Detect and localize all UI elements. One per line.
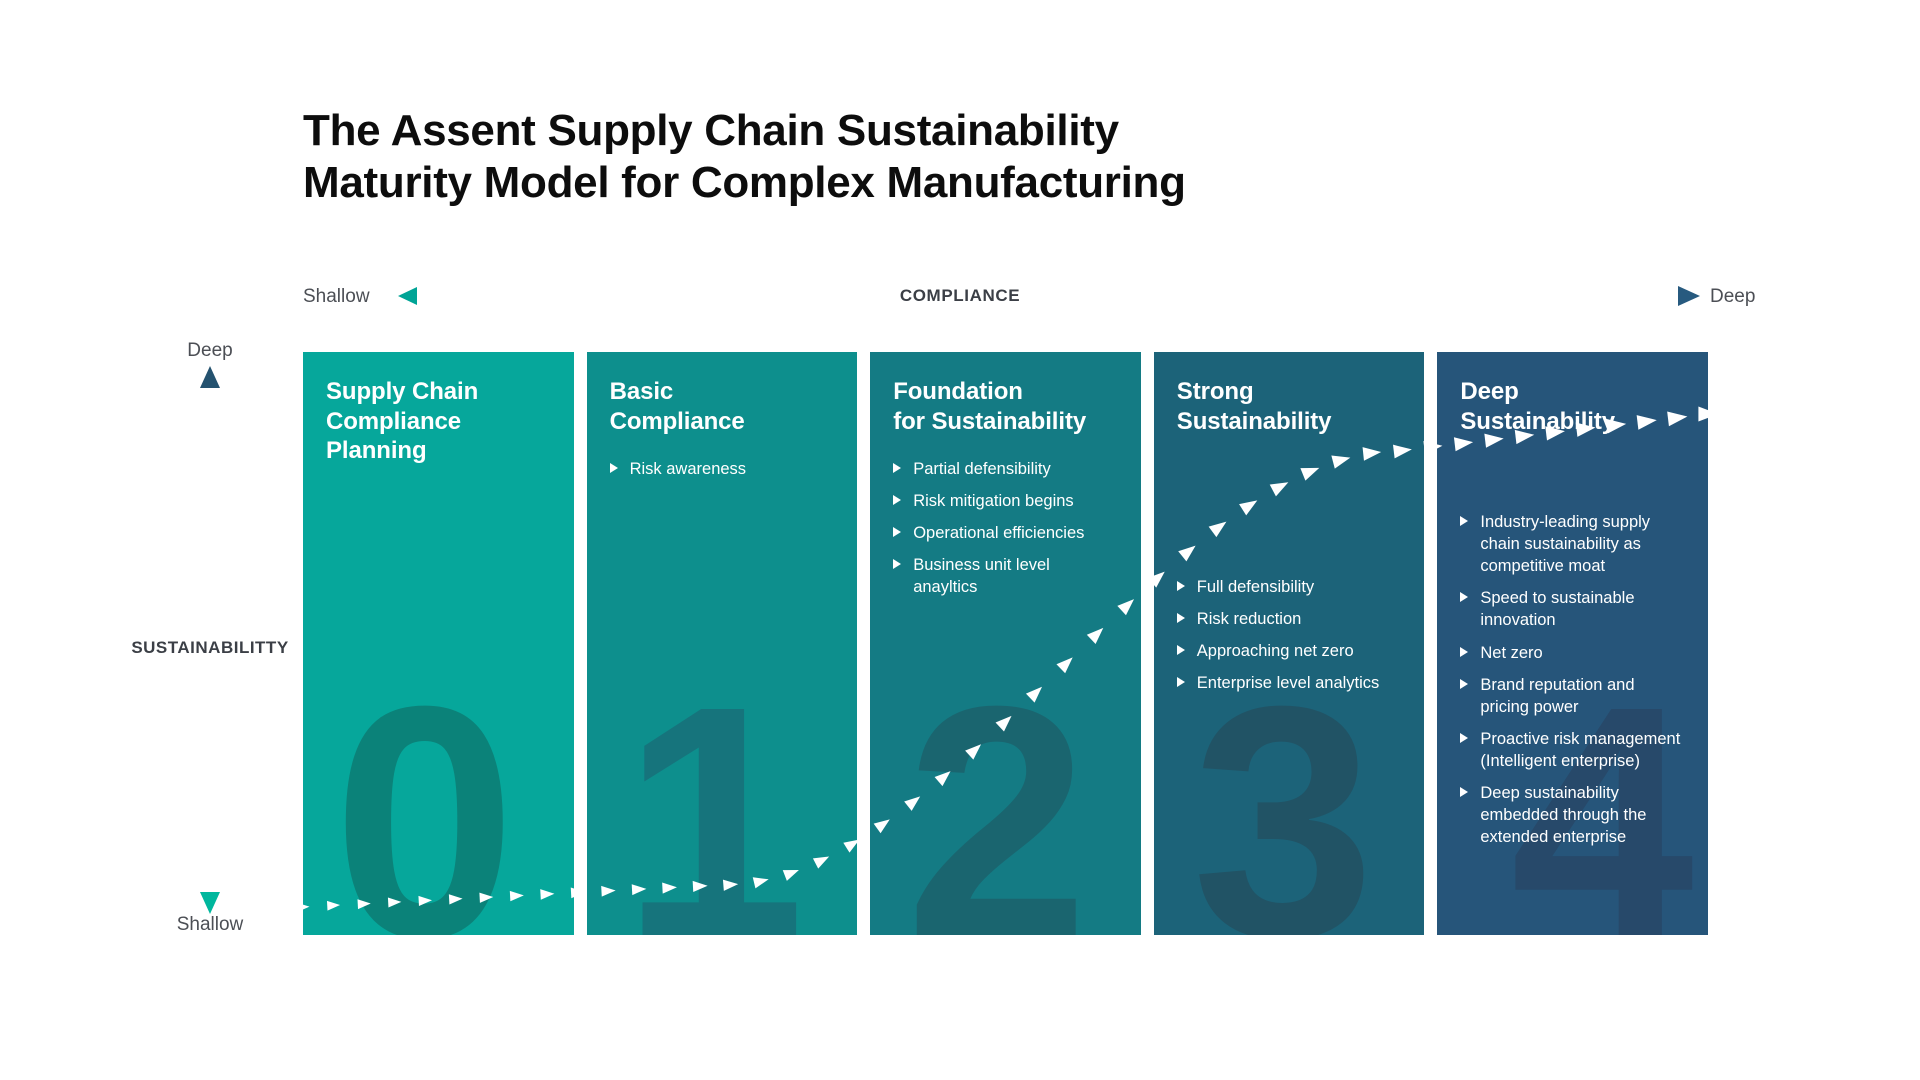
- stage-bullet-label: Risk mitigation begins: [913, 492, 1074, 510]
- stage-bullet: Approaching net zero: [1177, 640, 1402, 662]
- compliance-axis: Shallow COMPLIANCE Deep: [0, 278, 1920, 320]
- sustainability-axis-top-label: Deep: [120, 340, 300, 362]
- bullet-triangle-icon: [1177, 677, 1185, 687]
- maturity-stage-4[interactable]: 4 Deep Sustainability Industry-leading s…: [1437, 352, 1708, 935]
- bullet-triangle-icon: [1177, 613, 1185, 623]
- stage-number-3: 3: [1192, 657, 1368, 935]
- stage-number-1: 1: [622, 657, 798, 935]
- sustainability-axis-title: SUSTAINABILITTY: [90, 635, 330, 661]
- stage-bullet-label: Risk awareness: [630, 460, 746, 478]
- bullet-triangle-icon: [893, 463, 901, 473]
- bullet-triangle-icon: [1460, 733, 1468, 743]
- stage-bullet-label: Full defensibility: [1197, 578, 1314, 596]
- maturity-stage-0[interactable]: 0 Supply Chain Compliance Planning: [303, 352, 574, 935]
- stage-heading-3: Strong Sustainability: [1177, 377, 1402, 436]
- stage-bullet-label: Risk reduction: [1197, 610, 1302, 628]
- stage-bullet-label: Brand reputation and pricing power: [1480, 676, 1634, 716]
- bullet-triangle-icon: [1460, 679, 1468, 689]
- stage-bullet: Proactive risk management (Intelligent e…: [1460, 728, 1685, 772]
- stage-bullet-label: Enterprise level analytics: [1197, 674, 1380, 692]
- stage-bullet: Brand reputation and pricing power: [1460, 674, 1685, 718]
- maturity-stage-3[interactable]: 3 Strong Sustainability Full defensibili…: [1154, 352, 1425, 935]
- stage-bullets-3: Full defensibilityRisk reductionApproach…: [1177, 576, 1402, 694]
- compliance-axis-right-label: Deep: [1710, 286, 1755, 308]
- bullet-triangle-icon: [1460, 516, 1468, 526]
- stage-bullet-label: Deep sustainability embedded through the…: [1480, 784, 1646, 846]
- stage-bullet: Risk reduction: [1177, 608, 1402, 630]
- stage-bullet: Enterprise level analytics: [1177, 672, 1402, 694]
- stage-bullet-label: Net zero: [1480, 644, 1542, 662]
- maturity-stage-1[interactable]: 1 Basic Compliance Risk awareness: [587, 352, 858, 935]
- stage-heading-1: Basic Compliance: [610, 377, 835, 436]
- stage-bullet: Partial defensibility: [893, 458, 1118, 480]
- bullet-triangle-icon: [1460, 787, 1468, 797]
- bullet-triangle-icon: [893, 495, 901, 505]
- bullet-triangle-icon: [1177, 645, 1185, 655]
- stage-bullet: Business unit level anayltics: [893, 554, 1118, 598]
- stage-bullets-1: Risk awareness: [610, 458, 835, 480]
- bullet-triangle-icon: [610, 463, 618, 473]
- stage-bullet-label: Partial defensibility: [913, 460, 1051, 478]
- bullet-triangle-icon: [1460, 647, 1468, 657]
- stage-heading-4: Deep Sustainability: [1460, 377, 1685, 436]
- stage-heading-2: Foundation for Sustainability: [893, 377, 1118, 436]
- compliance-axis-title: COMPLIANCE: [900, 286, 1020, 306]
- stage-bullet: Speed to sustainable innovation: [1460, 587, 1685, 631]
- compliance-axis-left-label: Shallow: [303, 286, 370, 308]
- stage-bullet-label: Speed to sustainable innovation: [1480, 589, 1634, 629]
- stage-bullet-label: Business unit level anayltics: [913, 556, 1050, 596]
- stage-bullet: Deep sustainability embedded through the…: [1460, 782, 1685, 848]
- bullet-triangle-icon: [1177, 581, 1185, 591]
- maturity-stage-2[interactable]: 2 Foundation for Sustainability Partial …: [870, 352, 1141, 935]
- stage-bullet-label: Proactive risk management (Intelligent e…: [1480, 730, 1680, 770]
- stage-heading-0: Supply Chain Compliance Planning: [326, 377, 551, 466]
- stage-bullet-label: Approaching net zero: [1197, 642, 1354, 660]
- stage-bullet: Risk awareness: [610, 458, 835, 480]
- stage-bullet: Risk mitigation begins: [893, 490, 1118, 512]
- stage-number-2: 2: [905, 657, 1081, 935]
- stage-bullet: Industry-leading supply chain sustainabi…: [1460, 511, 1685, 577]
- bullet-triangle-icon: [1460, 592, 1468, 602]
- sustainability-axis-bottom-label: Shallow: [120, 914, 300, 936]
- infographic-canvas: The Assent Supply Chain Sustainability M…: [0, 0, 1920, 1080]
- page-title: The Assent Supply Chain Sustainability M…: [303, 105, 1403, 209]
- bullet-triangle-icon: [893, 559, 901, 569]
- stage-bullet-label: Operational efficiencies: [913, 524, 1084, 542]
- stage-bullets-4: Industry-leading supply chain sustainabi…: [1460, 511, 1685, 848]
- stage-bullet: Net zero: [1460, 642, 1685, 664]
- maturity-stage-columns: 0 Supply Chain Compliance Planning 1 Bas…: [303, 352, 1708, 935]
- stage-bullet: Full defensibility: [1177, 576, 1402, 598]
- bullet-triangle-icon: [893, 527, 901, 537]
- stage-bullet: Operational efficiencies: [893, 522, 1118, 544]
- stage-bullet-label: Industry-leading supply chain sustainabi…: [1480, 513, 1650, 575]
- stage-number-0: 0: [333, 657, 509, 935]
- stage-bullets-2: Partial defensibilityRisk mitigation beg…: [893, 458, 1118, 599]
- sustainability-axis: Deep SUSTAINABILITTY Shallow: [120, 340, 300, 940]
